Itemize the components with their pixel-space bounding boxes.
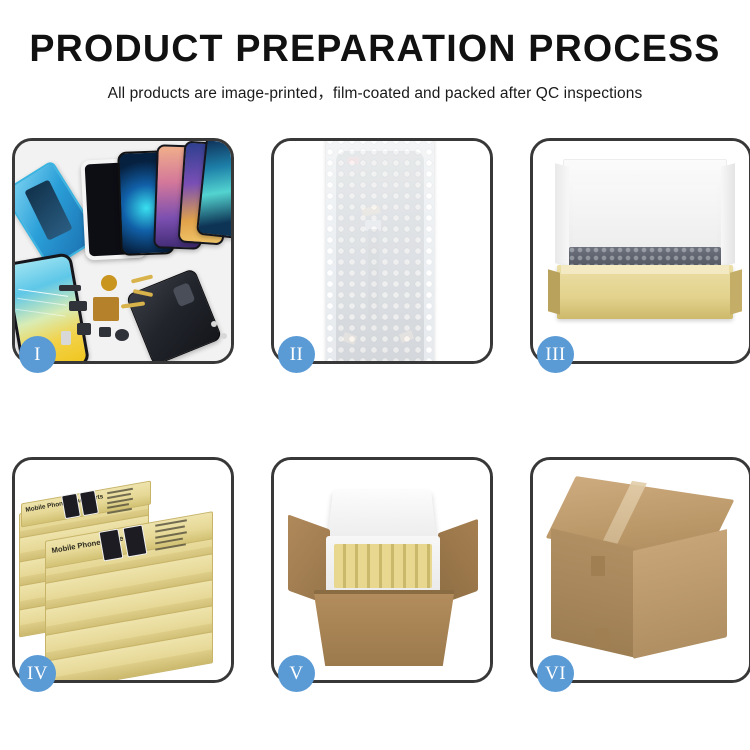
- process-step-panel-5: V: [271, 457, 493, 683]
- carton-left-face: [551, 528, 635, 657]
- box-stack: Mobile Phone Spare Parts: [19, 474, 231, 674]
- panel-2-image: [274, 141, 490, 361]
- page-subtitle: All products are image-printed，film-coat…: [0, 81, 750, 103]
- small-part-a: [59, 285, 81, 291]
- phone-back-housing: [125, 268, 222, 361]
- small-part-f: [115, 329, 129, 341]
- box-right-end: [730, 269, 742, 314]
- step-badge-3: III: [537, 336, 574, 373]
- process-step-grid: I II: [12, 138, 738, 683]
- panel-1-image: [15, 141, 231, 361]
- carton-tab-bottom: [595, 628, 609, 648]
- box-rim: [561, 265, 729, 274]
- bubble-wrap: [326, 141, 434, 361]
- step-badge-6: VI: [537, 655, 574, 692]
- open-gold-box: [557, 265, 733, 319]
- small-part-c: [77, 323, 91, 335]
- flex-cable-a: [131, 274, 153, 283]
- process-step-panel-4: Mobile Phone Spare Parts: [12, 457, 234, 683]
- step-badge-4: IV: [19, 655, 56, 692]
- step-badge-5: V: [278, 655, 315, 692]
- panel-3-image: [533, 141, 749, 361]
- small-part-d: [61, 331, 71, 345]
- screw-b: [221, 333, 227, 339]
- small-part-b: [69, 301, 87, 311]
- connector-grid-part: [93, 297, 119, 321]
- page-title: PRODUCT PREPARATION PROCESS: [4, 30, 747, 70]
- gold-coil-part: [101, 275, 117, 291]
- carton-body: [314, 594, 454, 666]
- box-left-end: [548, 269, 560, 314]
- process-step-panel-1: I: [12, 138, 234, 364]
- process-step-panel-6: VI: [530, 457, 750, 683]
- process-step-panel-2: II: [271, 138, 493, 364]
- process-step-panel-3: III: [530, 138, 750, 364]
- header: PRODUCT PREPARATION PROCESS All products…: [0, 0, 750, 103]
- panel-6-image: [533, 460, 749, 680]
- panel-4-image: Mobile Phone Spare Parts: [15, 460, 231, 680]
- step-badge-2: II: [278, 336, 315, 373]
- carton-front-face: [633, 529, 727, 659]
- step-badge-1: I: [19, 336, 56, 373]
- product-preparation-process-infographic: PRODUCT PREPARATION PROCESS All products…: [0, 0, 750, 750]
- screw-a: [211, 321, 217, 327]
- panel-5-image: [274, 460, 490, 680]
- gold-boxes-inside: [334, 544, 432, 588]
- carton-tab-top: [591, 556, 605, 576]
- small-part-e: [99, 327, 111, 337]
